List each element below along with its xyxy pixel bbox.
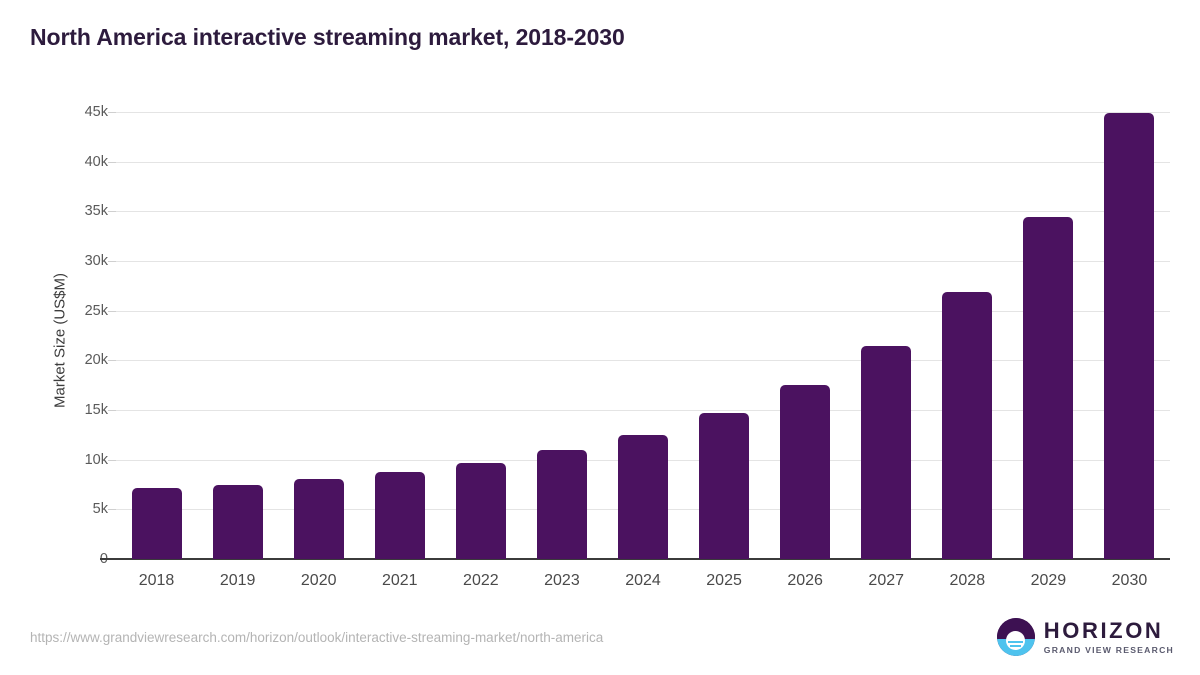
x-axis-tick-label-2018: 2018 (139, 572, 175, 590)
bar-slot[interactable] (116, 112, 197, 559)
bar-2024[interactable] (618, 435, 668, 559)
y-axis-tick-mark (108, 460, 116, 461)
logo-name: HORIZON (1044, 620, 1174, 642)
y-axis-tick-mark (108, 261, 116, 262)
x-axis-tick-label-2019: 2019 (220, 572, 256, 590)
bar-2018[interactable] (132, 488, 182, 559)
y-axis-title: Market Size (US$M) (52, 131, 69, 551)
y-axis-tick-label: 5k (38, 501, 108, 517)
bar-slot[interactable] (359, 112, 440, 559)
y-axis-tick-label: 20k (38, 352, 108, 368)
y-axis-tick-label: 35k (38, 203, 108, 219)
bar-2021[interactable] (375, 472, 425, 559)
bar-slot[interactable] (440, 112, 521, 559)
y-axis-tick-label: 45k (38, 104, 108, 120)
x-axis-tick-label-2028: 2028 (950, 572, 986, 590)
bar-2019[interactable] (213, 485, 263, 560)
source-url[interactable]: https://www.grandviewresearch.com/horizo… (30, 630, 603, 645)
bar-slot[interactable] (1008, 112, 1089, 559)
bar-slot[interactable] (521, 112, 602, 559)
x-axis-tick-label-2023: 2023 (544, 572, 580, 590)
horizon-logo: HORIZON GRAND VIEW RESEARCH (997, 618, 1174, 656)
y-axis-tick-label: 15k (38, 402, 108, 418)
plot-area: Market Size (US$M) 05k10k15k20k25k30k35k… (0, 0, 1200, 675)
y-axis-tick-mark (108, 211, 116, 212)
y-axis-tick-label: 30k (38, 253, 108, 269)
bar-slot[interactable] (1089, 112, 1170, 559)
y-axis-tick-mark (108, 112, 116, 113)
y-axis-tick-mark (108, 162, 116, 163)
x-axis-tick-label-2022: 2022 (463, 572, 499, 590)
bar-slot[interactable] (197, 112, 278, 559)
logo-subtitle: GRAND VIEW RESEARCH (1044, 646, 1174, 655)
x-axis-tick-label-2026: 2026 (787, 572, 823, 590)
chart-card: North America interactive streaming mark… (0, 0, 1200, 675)
bar-2030[interactable] (1104, 113, 1154, 559)
x-axis-tick-label-2025: 2025 (706, 572, 742, 590)
y-axis-tick-mark (108, 410, 116, 411)
x-axis-tick-label-2024: 2024 (625, 572, 661, 590)
bar-slot[interactable] (927, 112, 1008, 559)
bar-2028[interactable] (942, 292, 992, 559)
y-axis-tick-label: 10k (38, 452, 108, 468)
bar-2022[interactable] (456, 463, 506, 559)
bar-2025[interactable] (699, 413, 749, 559)
bar-slot[interactable] (602, 112, 683, 559)
bar-2029[interactable] (1023, 217, 1073, 559)
horizon-sunset-icon (997, 618, 1035, 656)
y-axis-tick-label: 0 (38, 551, 108, 567)
bar-2026[interactable] (780, 385, 830, 559)
bar-2027[interactable] (861, 346, 911, 559)
bar-slot[interactable] (765, 112, 846, 559)
bar-slot[interactable] (684, 112, 765, 559)
bar-slot[interactable] (846, 112, 927, 559)
x-axis-tick-label-2020: 2020 (301, 572, 337, 590)
x-axis-tick-label-2030: 2030 (1112, 572, 1148, 590)
bar-2023[interactable] (537, 450, 587, 559)
y-axis-tick-mark (108, 509, 116, 510)
x-axis-tick-label-2021: 2021 (382, 572, 418, 590)
bar-2020[interactable] (294, 479, 344, 559)
y-axis-tick-mark (108, 311, 116, 312)
y-axis-tick-mark (108, 360, 116, 361)
x-axis-tick-label-2027: 2027 (868, 572, 904, 590)
bar-series (116, 112, 1170, 559)
y-axis-tick-label: 25k (38, 303, 108, 319)
x-axis-tick-label-2029: 2029 (1031, 572, 1067, 590)
bar-slot[interactable] (278, 112, 359, 559)
y-axis-tick-label: 40k (38, 154, 108, 170)
